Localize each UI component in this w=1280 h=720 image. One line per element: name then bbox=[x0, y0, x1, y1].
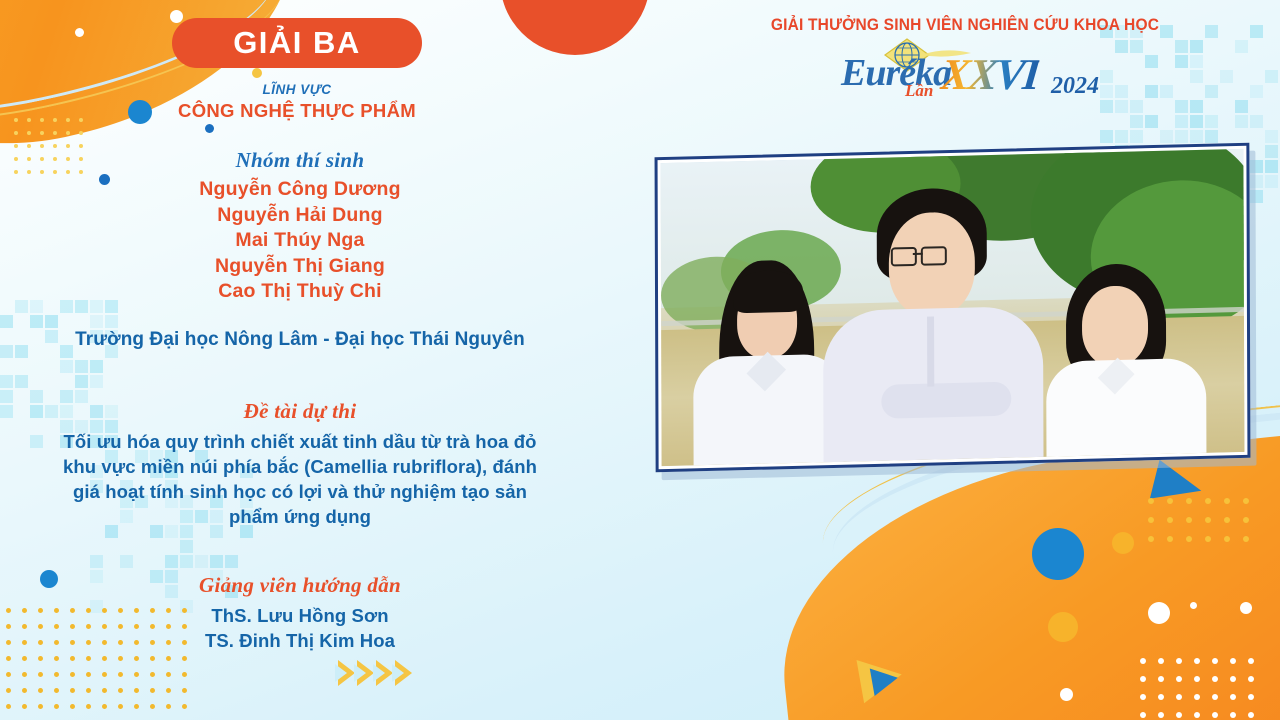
field-label: LĨNH VỰC bbox=[172, 82, 422, 97]
eureka-year: 2024 bbox=[1051, 73, 1099, 100]
team-section-label: Nhóm thí sinh bbox=[0, 148, 600, 173]
decor-circle-yellow-bottom-right bbox=[1048, 612, 1078, 642]
topic-line: giá hoạt tính sinh học có lợi và thử ngh… bbox=[0, 479, 600, 504]
triangle-right-icon-blue-small bbox=[870, 664, 900, 696]
award-badge: GIẢI BA bbox=[172, 18, 422, 68]
photo-image bbox=[661, 149, 1245, 466]
advisor-name: ThS. Lưu Hồng Sơn bbox=[0, 603, 600, 628]
field-value: CÔNG NGHỆ THỰC PHẨM bbox=[112, 100, 482, 122]
decor-circle-blue-bottom-right bbox=[1032, 528, 1084, 580]
team-member: Cao Thị Thuỳ Chi bbox=[0, 279, 600, 305]
decor-circle-orange-right bbox=[500, 0, 650, 55]
decor-circle-white-br-2 bbox=[1240, 602, 1252, 614]
eureka-edition-label: Lần bbox=[905, 81, 933, 101]
photo-frame bbox=[655, 143, 1251, 473]
photo-person-center bbox=[841, 185, 1072, 466]
double-chevron-right-icon bbox=[338, 660, 412, 686]
eureka-logo-block: GIẢI THƯỞNG SINH VIÊN NGHIÊN CỨU KHOA HỌ… bbox=[755, 16, 1175, 99]
topic-line: khu vực miền núi phía bắc (Camellia rubr… bbox=[0, 454, 600, 479]
decor-circle-yellow-mid-right bbox=[1112, 532, 1134, 554]
advisor-section-label: Giảng viên hướng dẫn bbox=[0, 573, 600, 598]
award-program-title: GIẢI THƯỞNG SINH VIÊN NGHIÊN CỨU KHOA HỌ… bbox=[768, 16, 1163, 35]
team-member: Nguyễn Thị Giang bbox=[0, 254, 600, 280]
decor-circle-white-2 bbox=[75, 28, 84, 37]
team-member-list: Nguyễn Công Dương Nguyễn Hải Dung Mai Th… bbox=[0, 177, 600, 305]
eureka-edition-number: XXVI bbox=[938, 49, 1041, 100]
decor-circle-white-1 bbox=[170, 10, 183, 23]
topic-section: Đề tài dự thi Tối ưu hóa quy trình chiết… bbox=[0, 399, 600, 529]
topic-section-label: Đề tài dự thi bbox=[0, 399, 600, 424]
topic-line: phẩm ứng dụng bbox=[0, 504, 600, 529]
details-column: Nhóm thí sinh Nguyễn Công Dương Nguyễn H… bbox=[0, 148, 600, 653]
slide-canvas: GIẢI THƯỞNG SINH VIÊN NGHIÊN CỨU KHOA HỌ… bbox=[0, 0, 1280, 720]
team-photo bbox=[655, 143, 1251, 473]
triangle-right-icon-outline bbox=[856, 653, 905, 704]
decor-circle-white-br-1 bbox=[1148, 602, 1170, 624]
bottom-right-orange-wave-light bbox=[842, 562, 1280, 720]
decor-circle-yellow-1 bbox=[252, 68, 262, 78]
team-member: Nguyễn Hải Dung bbox=[0, 203, 600, 229]
eureka-logo-mark: Euréka Lần XXVI 2024 bbox=[755, 37, 1175, 99]
team-member: Mai Thúy Nga bbox=[0, 228, 600, 254]
award-badge-label: GIẢI BA bbox=[233, 25, 361, 61]
advisor-name: TS. Đinh Thị Kim Hoa bbox=[0, 628, 600, 653]
photo-glasses-icon bbox=[891, 245, 977, 265]
photo-person-right bbox=[1046, 261, 1227, 465]
team-member: Nguyễn Công Dương bbox=[0, 177, 600, 203]
bottom-right-blue-wave bbox=[966, 689, 1280, 720]
topic-line: Tối ưu hóa quy trình chiết xuất tinh dầu… bbox=[0, 429, 600, 454]
school-name: Trường Đại học Nông Lâm - Đại học Thái N… bbox=[0, 329, 600, 351]
decor-circle-white-br-3 bbox=[1190, 602, 1197, 609]
advisor-section: Giảng viên hướng dẫn ThS. Lưu Hồng Sơn T… bbox=[0, 573, 600, 653]
eureka-wordmark: Euréka bbox=[841, 51, 951, 95]
decor-circle-white-br-4 bbox=[1060, 688, 1073, 701]
decor-circle-blue-3 bbox=[205, 124, 214, 133]
